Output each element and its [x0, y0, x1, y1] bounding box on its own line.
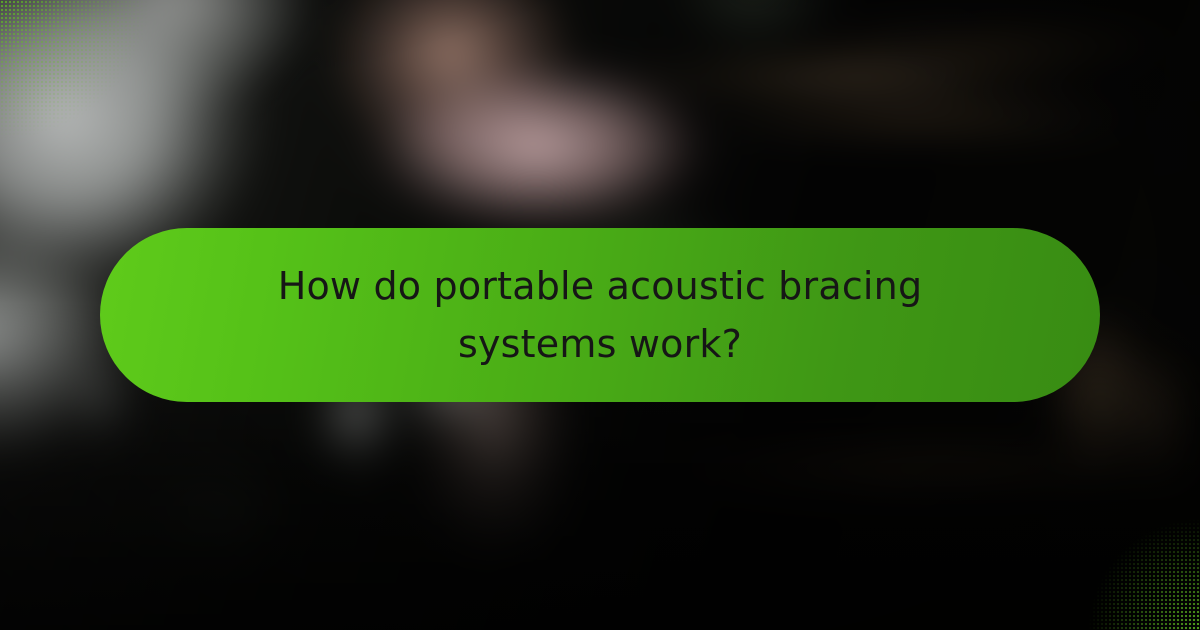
cta-container: How do portable acoustic bracing systems…	[100, 228, 1100, 402]
banner-canvas: How do portable acoustic bracing systems…	[0, 0, 1200, 630]
cta-question-label: How do portable acoustic bracing systems…	[230, 257, 970, 373]
cta-question-button[interactable]: How do portable acoustic bracing systems…	[100, 228, 1100, 402]
